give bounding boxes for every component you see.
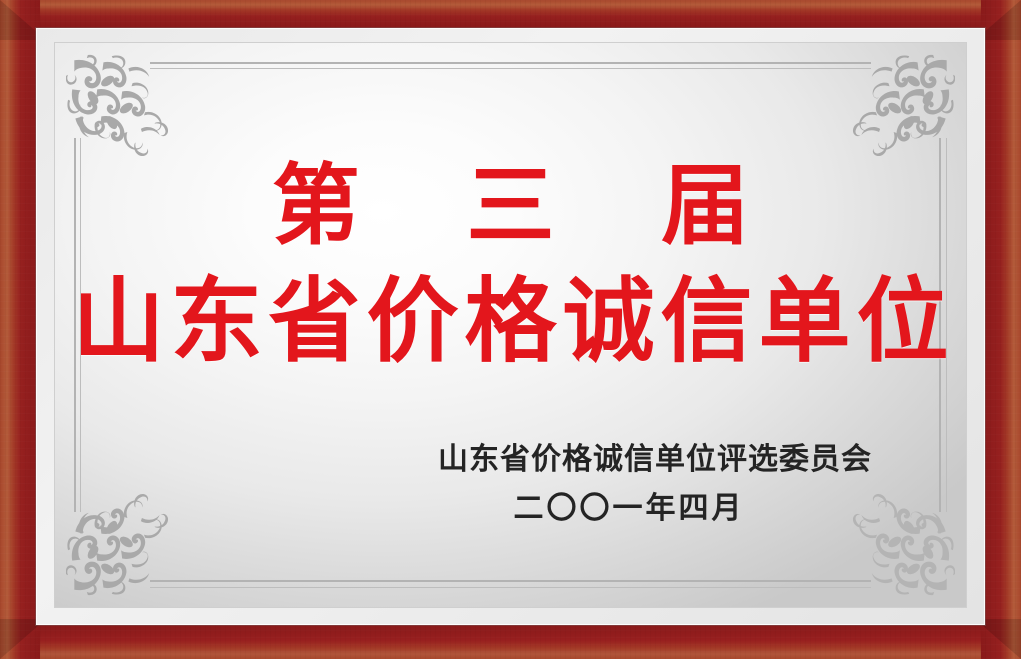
frame-edge-left bbox=[0, 0, 40, 659]
issue-date: 二〇〇一年四月 bbox=[415, 489, 895, 528]
frame-edge-top bbox=[0, 0, 1021, 30]
plaque-face: 第 三 届 山东省价格诚信单位 山东省价格诚信单位评选委员会 二〇〇一年四月 bbox=[54, 42, 967, 608]
plaque-bevel: 第 三 届 山东省价格诚信单位 山东省价格诚信单位评选委员会 二〇〇一年四月 bbox=[36, 28, 985, 625]
frame-edge-bottom bbox=[0, 623, 1021, 659]
issuer-signature: 山东省价格诚信单位评选委员会 二〇〇一年四月 bbox=[415, 440, 895, 528]
plaque-content: 第 三 届 山东省价格诚信单位 山东省价格诚信单位评选委员会 二〇〇一年四月 bbox=[54, 42, 967, 608]
award-title-line-2: 山东省价格诚信单位 bbox=[54, 270, 967, 373]
award-title: 第 三 届 山东省价格诚信单位 bbox=[54, 160, 967, 373]
frame-edge-right bbox=[981, 0, 1021, 659]
award-plaque: 第 三 届 山东省价格诚信单位 山东省价格诚信单位评选委员会 二〇〇一年四月 bbox=[0, 0, 1021, 659]
issuing-organization: 山东省价格诚信单位评选委员会 bbox=[415, 440, 895, 479]
award-title-line-1: 第 三 届 bbox=[54, 160, 967, 252]
